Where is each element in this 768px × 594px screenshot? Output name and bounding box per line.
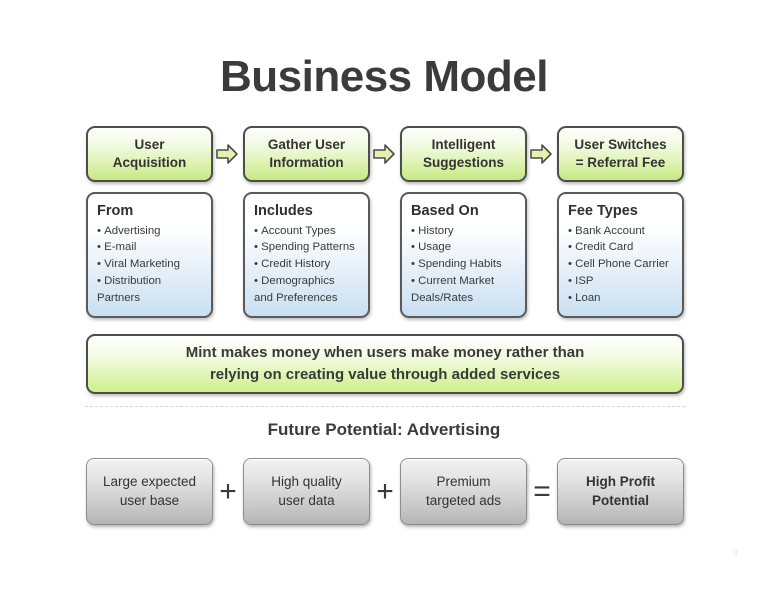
flow-step-label: User Acquisition [113,136,187,171]
banner-line1: Mint makes money when users make money r… [186,342,584,364]
equation-term-line1: High Profit [586,474,655,489]
plus-operator-icon: + [371,472,399,512]
list-item: History [411,223,518,240]
flow-step-label: Gather User Information [268,136,345,171]
list-item: Credit History [254,256,361,273]
list-item-continuation: Deals/Rates [411,290,518,307]
detail-card-based-on[interactable]: Based On History Usage Spending Habits C… [400,192,527,318]
list-item: Spending Habits [411,256,518,273]
equation-term-line2: Potential [592,493,649,508]
list-item: Spending Patterns [254,239,361,256]
list-item: Current Market [411,273,518,290]
detail-card-heading: Includes [254,203,361,220]
list-item-continuation: Partners [97,290,204,307]
list-item: Loan [568,290,675,307]
section-divider [85,406,685,407]
equation-result-high-profit-potential[interactable]: High Profit Potential [557,458,684,525]
list-item: Credit Card [568,239,675,256]
flow-step-line2: Acquisition [113,155,187,170]
detail-card-list: Bank Account Credit Card Cell Phone Carr… [568,223,675,307]
detail-card-heading: Fee Types [568,203,675,220]
list-item: ISP [568,273,675,290]
process-flow-row: User Acquisition Gather User Information… [86,126,686,182]
equals-operator-icon: = [528,472,556,512]
equation-term-high-quality-user-data[interactable]: High quality user data [243,458,370,525]
list-item: Advertising [97,223,204,240]
flow-step-line1: User Switches [574,137,666,152]
equation-term-label: High Profit Potential [586,473,655,509]
detail-card-heading: Based On [411,203,518,220]
equation-term-label: High quality user data [271,473,342,509]
list-item-continuation: and Preferences [254,290,361,307]
equation-term-large-expected-user-base[interactable]: Large expected user base [86,458,213,525]
right-block-arrow-icon [529,142,553,166]
flow-step-user-switches-referral-fee[interactable]: User Switches = Referral Fee [557,126,684,182]
equation-term-label: Premium targeted ads [426,473,501,509]
slide-canvas: Business Model User Acquisition Gather U… [0,0,768,594]
list-item: Distribution [97,273,204,290]
list-item: Bank Account [568,223,675,240]
flow-step-intelligent-suggestions[interactable]: Intelligent Suggestions [400,126,527,182]
detail-cards-row: From Advertising E-mail Viral Marketing … [86,192,686,318]
banner-line2: relying on creating value through added … [210,364,560,386]
flow-step-line1: Intelligent [432,137,496,152]
detail-card-list: History Usage Spending Habits Current Ma… [411,223,518,307]
right-block-arrow-icon [215,142,239,166]
list-item: Usage [411,239,518,256]
detail-card-heading: From [97,203,204,220]
equation-term-line1: Large expected [103,474,196,489]
plus-operator-icon: + [214,472,242,512]
list-item: Cell Phone Carrier [568,256,675,273]
flow-step-label: Intelligent Suggestions [423,136,504,171]
flow-step-line2: Information [269,155,343,170]
list-item: Viral Marketing [97,256,204,273]
value-equation-row: Large expected user base + High quality … [86,458,686,525]
equation-term-line1: High quality [271,474,342,489]
flow-step-gather-user-information[interactable]: Gather User Information [243,126,370,182]
section-subtitle: Future Potential: Advertising [0,420,768,440]
flow-step-line2: Suggestions [423,155,504,170]
equation-term-line1: Premium [436,474,490,489]
flow-step-line1: Gather User [268,137,345,152]
page-title: Business Model [0,52,768,102]
flow-step-line2: = Referral Fee [576,155,666,170]
flow-step-user-acquisition[interactable]: User Acquisition [86,126,213,182]
equation-term-line2: user base [120,493,179,508]
key-message-banner: Mint makes money when users make money r… [86,334,684,394]
equation-term-premium-targeted-ads[interactable]: Premium targeted ads [400,458,527,525]
detail-card-list: Account Types Spending Patterns Credit H… [254,223,361,307]
list-item: Account Types [254,223,361,240]
page-number: 9 [733,548,738,558]
equation-term-label: Large expected user base [103,473,196,509]
detail-card-from[interactable]: From Advertising E-mail Viral Marketing … [86,192,213,318]
detail-card-fee-types[interactable]: Fee Types Bank Account Credit Card Cell … [557,192,684,318]
list-item: Demographics [254,273,361,290]
detail-card-list: Advertising E-mail Viral Marketing Distr… [97,223,204,307]
equation-term-line2: user data [278,493,334,508]
list-item: E-mail [97,239,204,256]
detail-card-includes[interactable]: Includes Account Types Spending Patterns… [243,192,370,318]
flow-step-label: User Switches = Referral Fee [574,136,666,171]
equation-term-line2: targeted ads [426,493,501,508]
flow-step-line1: User [134,137,164,152]
right-block-arrow-icon [372,142,396,166]
